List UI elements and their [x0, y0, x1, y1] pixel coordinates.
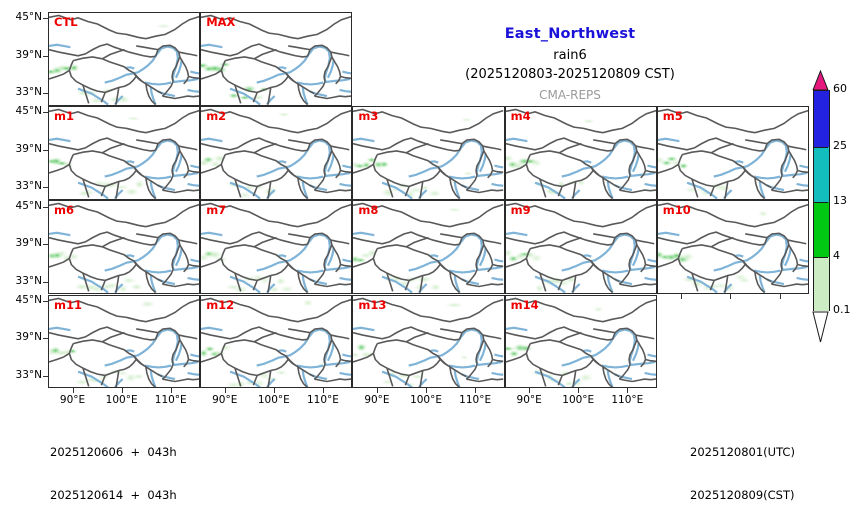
- panel-label-m6: m6: [54, 203, 74, 217]
- y-tick-mark: [43, 282, 48, 283]
- x-tick-label: 110°E: [604, 394, 650, 406]
- panel-label-m8: m8: [358, 203, 378, 217]
- x-tick-mark: [780, 294, 781, 299]
- panel-label-m1: m1: [54, 109, 74, 123]
- footer-init-times: 2025120606 + 043h 2025120614 + 043h: [50, 417, 177, 516]
- colorbar-tick-label: 13: [833, 194, 847, 207]
- x-tick-mark: [681, 294, 682, 299]
- colorbar-band-1: [813, 147, 830, 202]
- panel-label-m14: m14: [511, 298, 539, 312]
- y-tick-mark: [43, 301, 48, 302]
- x-tick-label: 100°E: [403, 394, 449, 406]
- map-panel-m14: m14: [505, 295, 657, 389]
- colorbar: [812, 70, 829, 345]
- colorbar-separator: [813, 90, 828, 91]
- y-tick-mark: [43, 338, 48, 339]
- x-tick-mark: [730, 294, 731, 299]
- y-tick-mark: [43, 150, 48, 151]
- y-tick-label: 33°N: [2, 275, 42, 287]
- footer-init-line1: 2025120606 + 043h: [50, 445, 177, 460]
- y-tick-label: 33°N: [2, 86, 42, 98]
- y-tick-label: 33°N: [2, 180, 42, 192]
- x-tick-mark: [475, 388, 476, 393]
- map-panel-m6: m6: [48, 200, 200, 294]
- footer-valid-times: 2025120801(UTC) 2025120809(CST): [690, 417, 795, 516]
- map-panel-m7: m7: [200, 200, 352, 294]
- panel-grid: CTLMAXm1m2m3m4m5m6m7m8m9m10m11m12m13m14: [48, 12, 805, 389]
- map-panel-m8: m8: [352, 200, 504, 294]
- map-panel-m13: m13: [352, 295, 504, 389]
- panel-label-m11: m11: [54, 298, 82, 312]
- x-tick-label: 110°E: [452, 394, 498, 406]
- panel-label-max: MAX: [206, 15, 235, 29]
- panel-label-ctl: CTL: [54, 15, 78, 29]
- footer-init-line2: 2025120614 + 043h: [50, 488, 177, 503]
- colorbar-tick-label: 4: [833, 249, 840, 262]
- x-tick-label: 100°E: [99, 394, 145, 406]
- panel-label-m12: m12: [206, 298, 234, 312]
- map-panel-m5: m5: [657, 106, 809, 200]
- y-tick-label: 45°N: [2, 11, 42, 23]
- x-tick-mark: [578, 388, 579, 393]
- map-panel-max: MAX: [200, 12, 352, 106]
- colorbar-under-arrow: [812, 311, 829, 343]
- map-panel-m4: m4: [505, 106, 657, 200]
- y-tick-label: 45°N: [2, 105, 42, 117]
- panel-label-m13: m13: [358, 298, 386, 312]
- footer-valid-cst: 2025120809(CST): [690, 488, 795, 503]
- footer-valid-utc: 2025120801(UTC): [690, 445, 795, 460]
- colorbar-over-arrow: [812, 70, 829, 90]
- x-tick-mark: [529, 388, 530, 393]
- colorbar-separator: [813, 257, 828, 258]
- y-tick-label: 39°N: [2, 49, 42, 61]
- colorbar-separator: [813, 147, 828, 148]
- y-tick-label: 39°N: [2, 331, 42, 343]
- y-tick-mark: [43, 112, 48, 113]
- x-tick-label: 110°E: [148, 394, 194, 406]
- colorbar-tick-label: 0.1: [833, 303, 851, 316]
- x-tick-mark: [377, 388, 378, 393]
- y-tick-mark: [43, 207, 48, 208]
- y-tick-mark: [43, 93, 48, 94]
- y-tick-mark: [43, 187, 48, 188]
- panel-label-m3: m3: [358, 109, 378, 123]
- x-tick-label: 100°E: [555, 394, 601, 406]
- panel-label-m4: m4: [511, 109, 531, 123]
- y-tick-label: 45°N: [2, 200, 42, 212]
- colorbar-tick-label: 60: [833, 82, 847, 95]
- x-tick-mark: [274, 388, 275, 393]
- x-tick-label: 100°E: [251, 394, 297, 406]
- map-panel-m1: m1: [48, 106, 200, 200]
- y-tick-label: 33°N: [2, 369, 42, 381]
- panel-label-m10: m10: [663, 203, 691, 217]
- map-panel-m9: m9: [505, 200, 657, 294]
- x-tick-label: 110°E: [300, 394, 346, 406]
- y-tick-mark: [43, 18, 48, 19]
- x-tick-mark: [323, 388, 324, 393]
- panel-label-m7: m7: [206, 203, 226, 217]
- x-tick-label: 90°E: [202, 394, 248, 406]
- y-tick-mark: [43, 244, 48, 245]
- y-tick-mark: [43, 376, 48, 377]
- x-tick-label: 90°E: [506, 394, 552, 406]
- x-tick-mark: [171, 388, 172, 393]
- x-tick-label: 90°E: [354, 394, 400, 406]
- x-tick-mark: [73, 388, 74, 393]
- panel-label-m9: m9: [511, 203, 531, 217]
- y-tick-label: 39°N: [2, 143, 42, 155]
- map-panel-m12: m12: [200, 295, 352, 389]
- map-panel-m11: m11: [48, 295, 200, 389]
- y-tick-mark: [43, 56, 48, 57]
- colorbar-tick-label: 25: [833, 139, 847, 152]
- colorbar-band-0: [813, 90, 830, 147]
- map-panel-m3: m3: [352, 106, 504, 200]
- y-tick-label: 39°N: [2, 237, 42, 249]
- panel-label-m2: m2: [206, 109, 226, 123]
- x-tick-mark: [225, 388, 226, 393]
- panel-label-m5: m5: [663, 109, 683, 123]
- map-panel-m2: m2: [200, 106, 352, 200]
- x-tick-mark: [122, 388, 123, 393]
- map-panel-ctl: CTL: [48, 12, 200, 106]
- x-tick-mark: [426, 388, 427, 393]
- colorbar-separator: [813, 202, 828, 203]
- colorbar-band-3: [813, 257, 830, 311]
- x-tick-mark: [627, 388, 628, 393]
- map-panel-m10: m10: [657, 200, 809, 294]
- y-tick-label: 45°N: [2, 294, 42, 306]
- x-tick-label: 90°E: [50, 394, 96, 406]
- colorbar-band-2: [813, 202, 830, 257]
